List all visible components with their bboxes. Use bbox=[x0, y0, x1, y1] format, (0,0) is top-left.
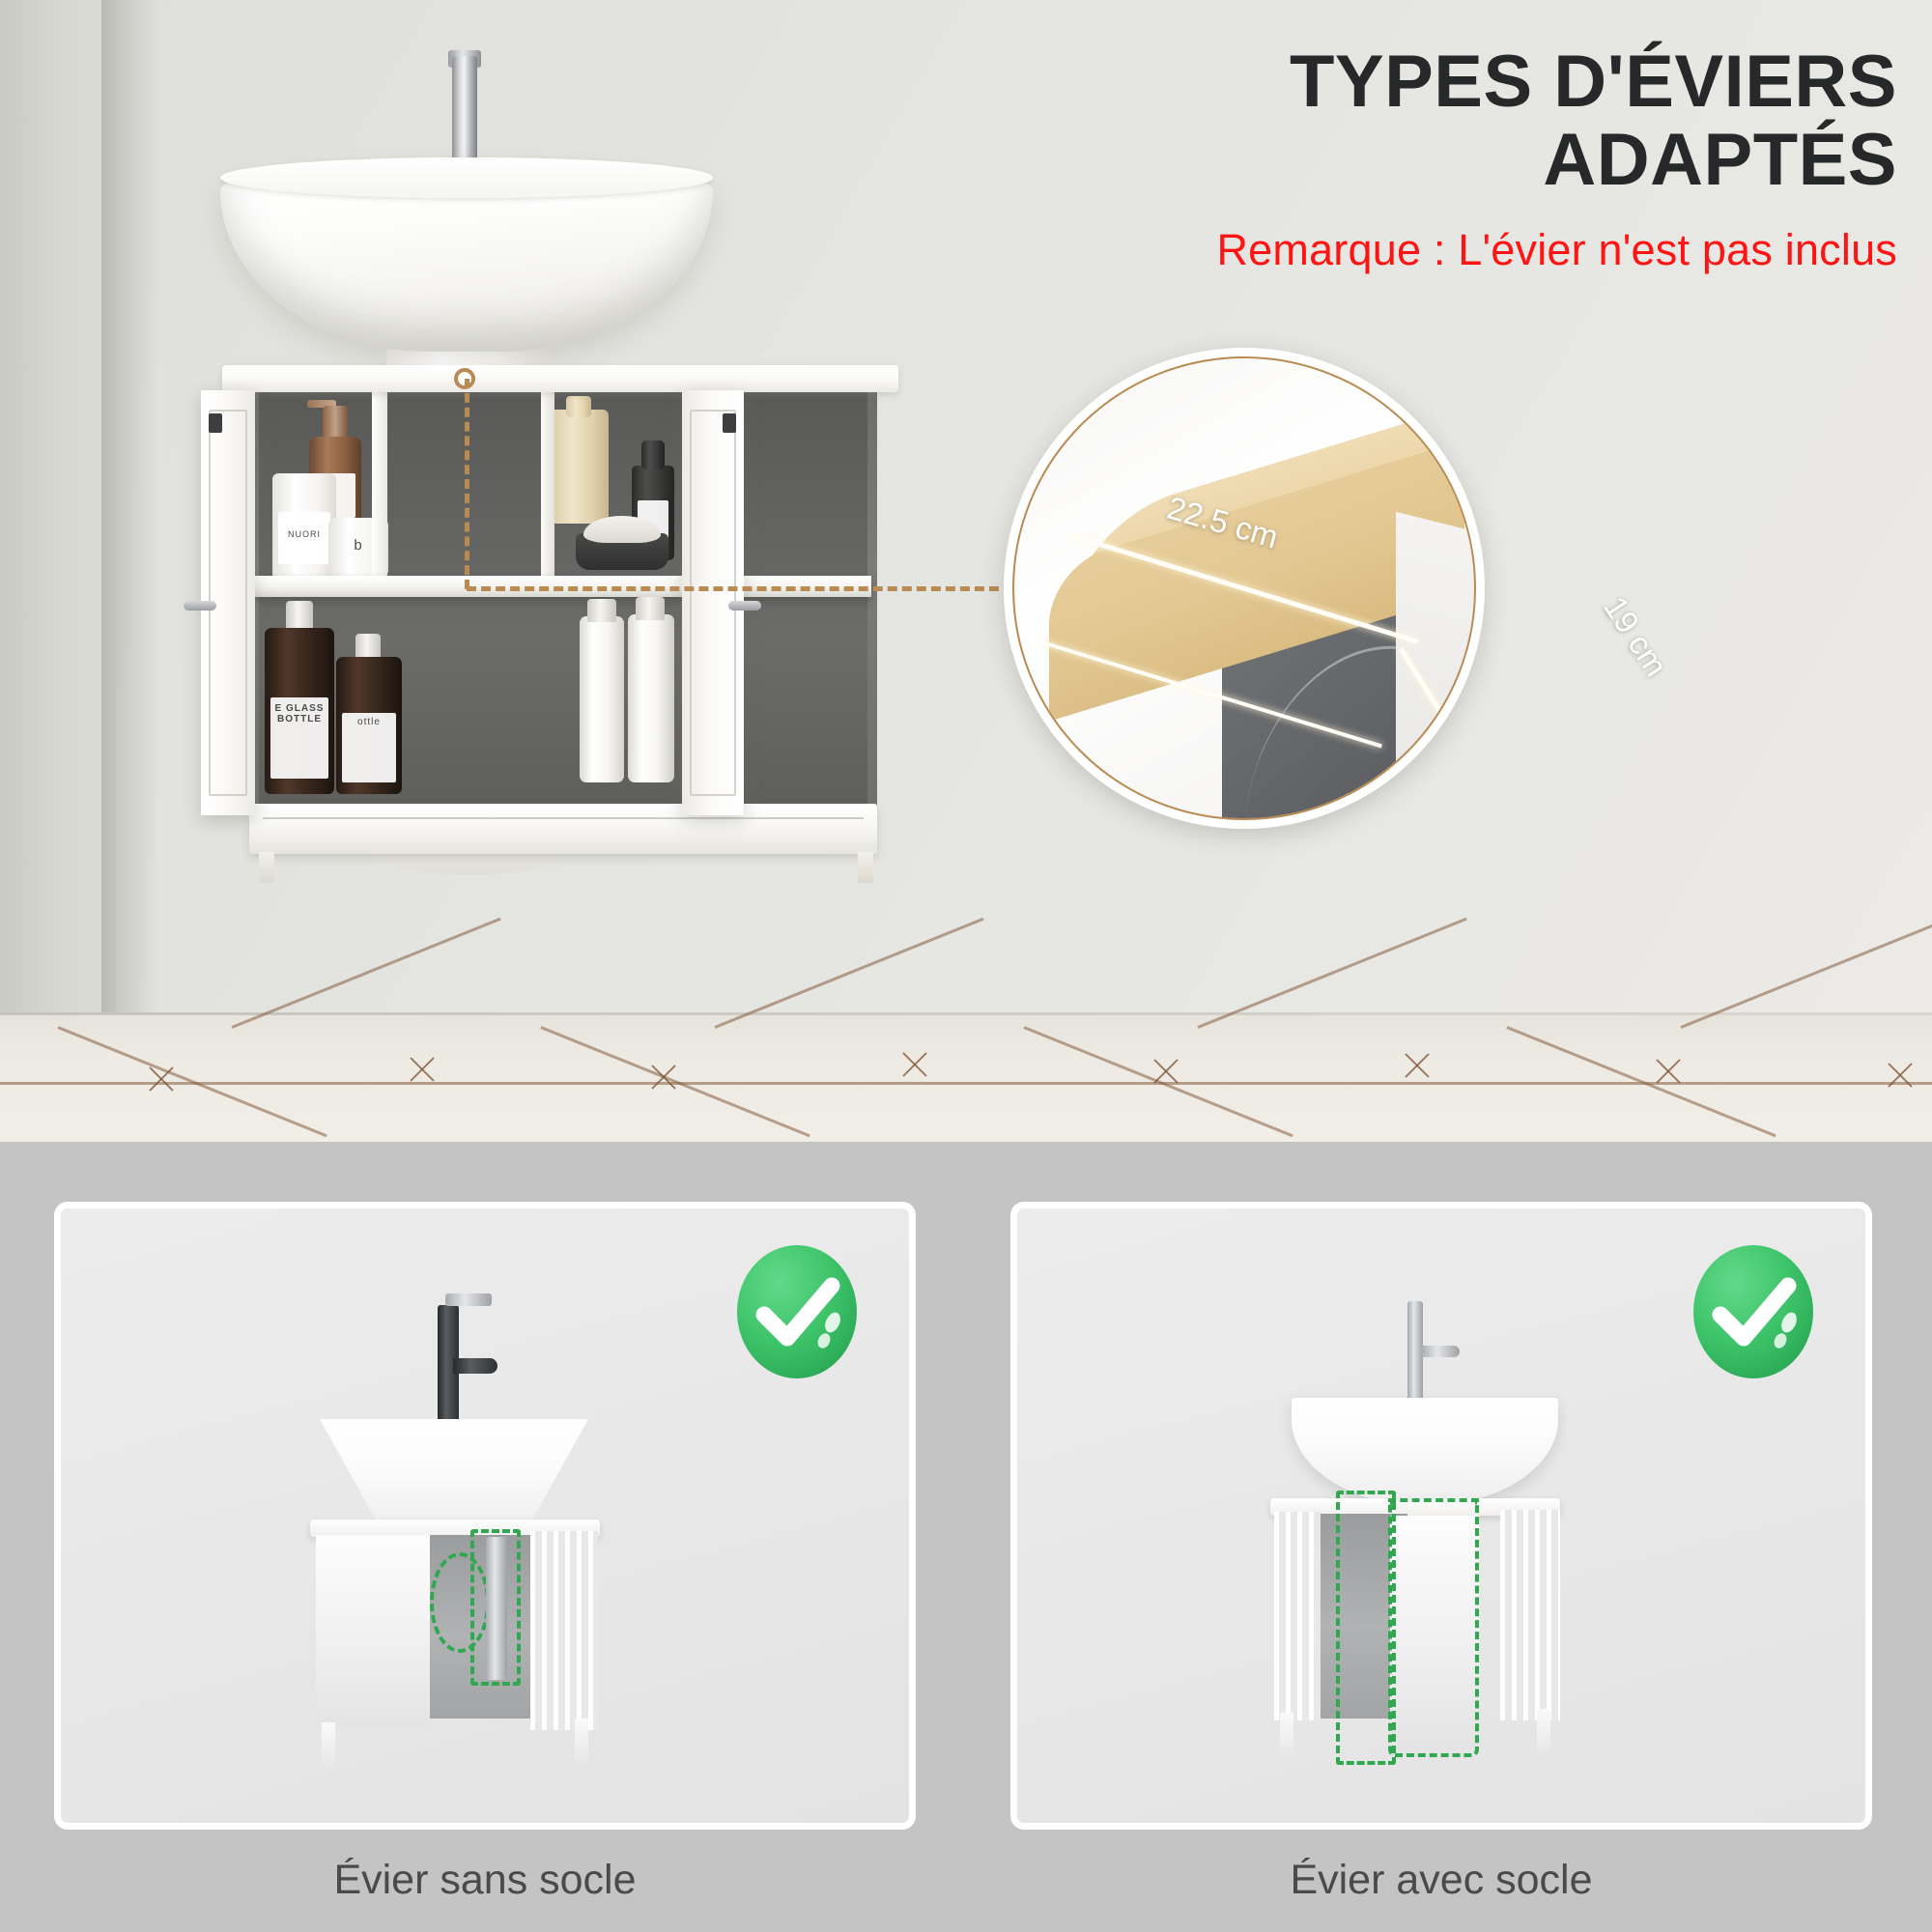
comparison-panel-avec-socle bbox=[1010, 1202, 1872, 1830]
mini-drain-pipe-left bbox=[486, 1537, 507, 1680]
mini-faucet-spout-left bbox=[453, 1358, 497, 1374]
bottle-label: E GLASS BOTTLE bbox=[270, 697, 328, 779]
mini-basin-round-right bbox=[1292, 1398, 1558, 1506]
bottle-label: NUORI bbox=[278, 512, 330, 564]
panel-caption-sans-socle: Évier sans socle bbox=[54, 1857, 916, 1904]
hinge-icon bbox=[209, 413, 222, 433]
highlight-pedestal-outline-right bbox=[1388, 1498, 1479, 1757]
cabinet-divider-right bbox=[541, 390, 554, 580]
bottle-label-text: NUORI bbox=[278, 529, 330, 539]
panel-caption-avec-socle: Évier avec socle bbox=[1010, 1857, 1872, 1904]
wall-corner-shadow bbox=[101, 0, 159, 1014]
highlight-pedestal-right bbox=[1336, 1491, 1396, 1765]
page-title-line-2: ADAPTÉS bbox=[931, 121, 1897, 199]
check-icon bbox=[735, 1243, 859, 1380]
dark-glass-bottle: E GLASS BOTTLE bbox=[265, 628, 334, 794]
bottle-cap bbox=[587, 599, 616, 622]
comparison-panel-sans-socle bbox=[54, 1202, 916, 1830]
dimension-callout bbox=[1011, 355, 1477, 821]
mini-cabinet-leg-right bbox=[1280, 1713, 1293, 1759]
bottle-cap bbox=[286, 601, 313, 630]
cabinet-plinth bbox=[249, 804, 877, 854]
mini-cabinet-left-face bbox=[316, 1535, 430, 1728]
mini-cabinet-leg-left bbox=[322, 1722, 335, 1769]
check-icon bbox=[1691, 1243, 1815, 1380]
door-knob-left[interactable] bbox=[184, 601, 216, 611]
bottle-label-text: ottle bbox=[342, 717, 396, 727]
cabinet-leg bbox=[858, 852, 873, 883]
amber-bottle-cap bbox=[566, 396, 591, 417]
floor-wall-joint bbox=[0, 1012, 1932, 1015]
bottle-label: ottle bbox=[342, 713, 396, 782]
bottle-cap bbox=[355, 634, 381, 659]
door-knob-right[interactable] bbox=[728, 601, 761, 611]
mini-faucet-spout-right bbox=[1421, 1346, 1460, 1357]
page-subtitle-note: Remarque : L'évier n'est pas inclus bbox=[931, 225, 1897, 275]
infographic-root: NUORI b E GLASS BOTTLE ottle bbox=[0, 0, 1932, 1932]
mini-basin-square-left bbox=[320, 1419, 588, 1525]
mini-faucet-lever-left bbox=[445, 1293, 492, 1306]
page-title-line-1: TYPES D'ÉVIERS bbox=[931, 43, 1897, 121]
comparison-section: Évier sans socle bbox=[0, 1142, 1932, 1932]
cabinet-leg bbox=[259, 852, 274, 883]
mini-cabinet-door-right bbox=[1274, 1512, 1321, 1720]
white-shampoo-bottle bbox=[628, 614, 674, 782]
mini-cabinet-door-left bbox=[530, 1531, 598, 1730]
status-badge-check-right bbox=[1691, 1243, 1815, 1380]
hinge-icon bbox=[723, 413, 736, 433]
wall-side bbox=[0, 0, 116, 1014]
bottle-cap bbox=[636, 597, 665, 620]
dropper-cap bbox=[641, 440, 665, 469]
hero-scene: NUORI b E GLASS BOTTLE ottle bbox=[0, 0, 1932, 1142]
leader-line-horizontal bbox=[467, 586, 1013, 591]
bottle-label-text: E GLASS BOTTLE bbox=[270, 703, 328, 724]
mini-cabinet-door-right-2 bbox=[1500, 1510, 1560, 1720]
mini-cabinet-leg-left bbox=[575, 1719, 588, 1765]
mini-cabinet-leg-right bbox=[1537, 1709, 1550, 1755]
cabinet-door-right[interactable] bbox=[682, 390, 744, 815]
leader-line-vertical bbox=[465, 379, 469, 589]
sink-basin-rim bbox=[220, 157, 713, 198]
amber-bottle bbox=[549, 410, 609, 524]
cabinet-plinth-groove bbox=[263, 817, 864, 819]
pump-head bbox=[323, 406, 348, 439]
dark-glass-bottle: ottle bbox=[336, 657, 402, 794]
status-badge-check-left bbox=[735, 1243, 859, 1380]
cabinet-divider-left bbox=[372, 390, 387, 580]
cabinet-top-surface bbox=[222, 365, 898, 392]
white-shampoo-bottle bbox=[580, 616, 624, 782]
cabinet-door-left[interactable] bbox=[201, 390, 255, 815]
white-pump-bottle: NUORI bbox=[272, 473, 336, 580]
header-block: TYPES D'ÉVIERS ADAPTÉS Remarque : L'évie… bbox=[931, 43, 1897, 275]
